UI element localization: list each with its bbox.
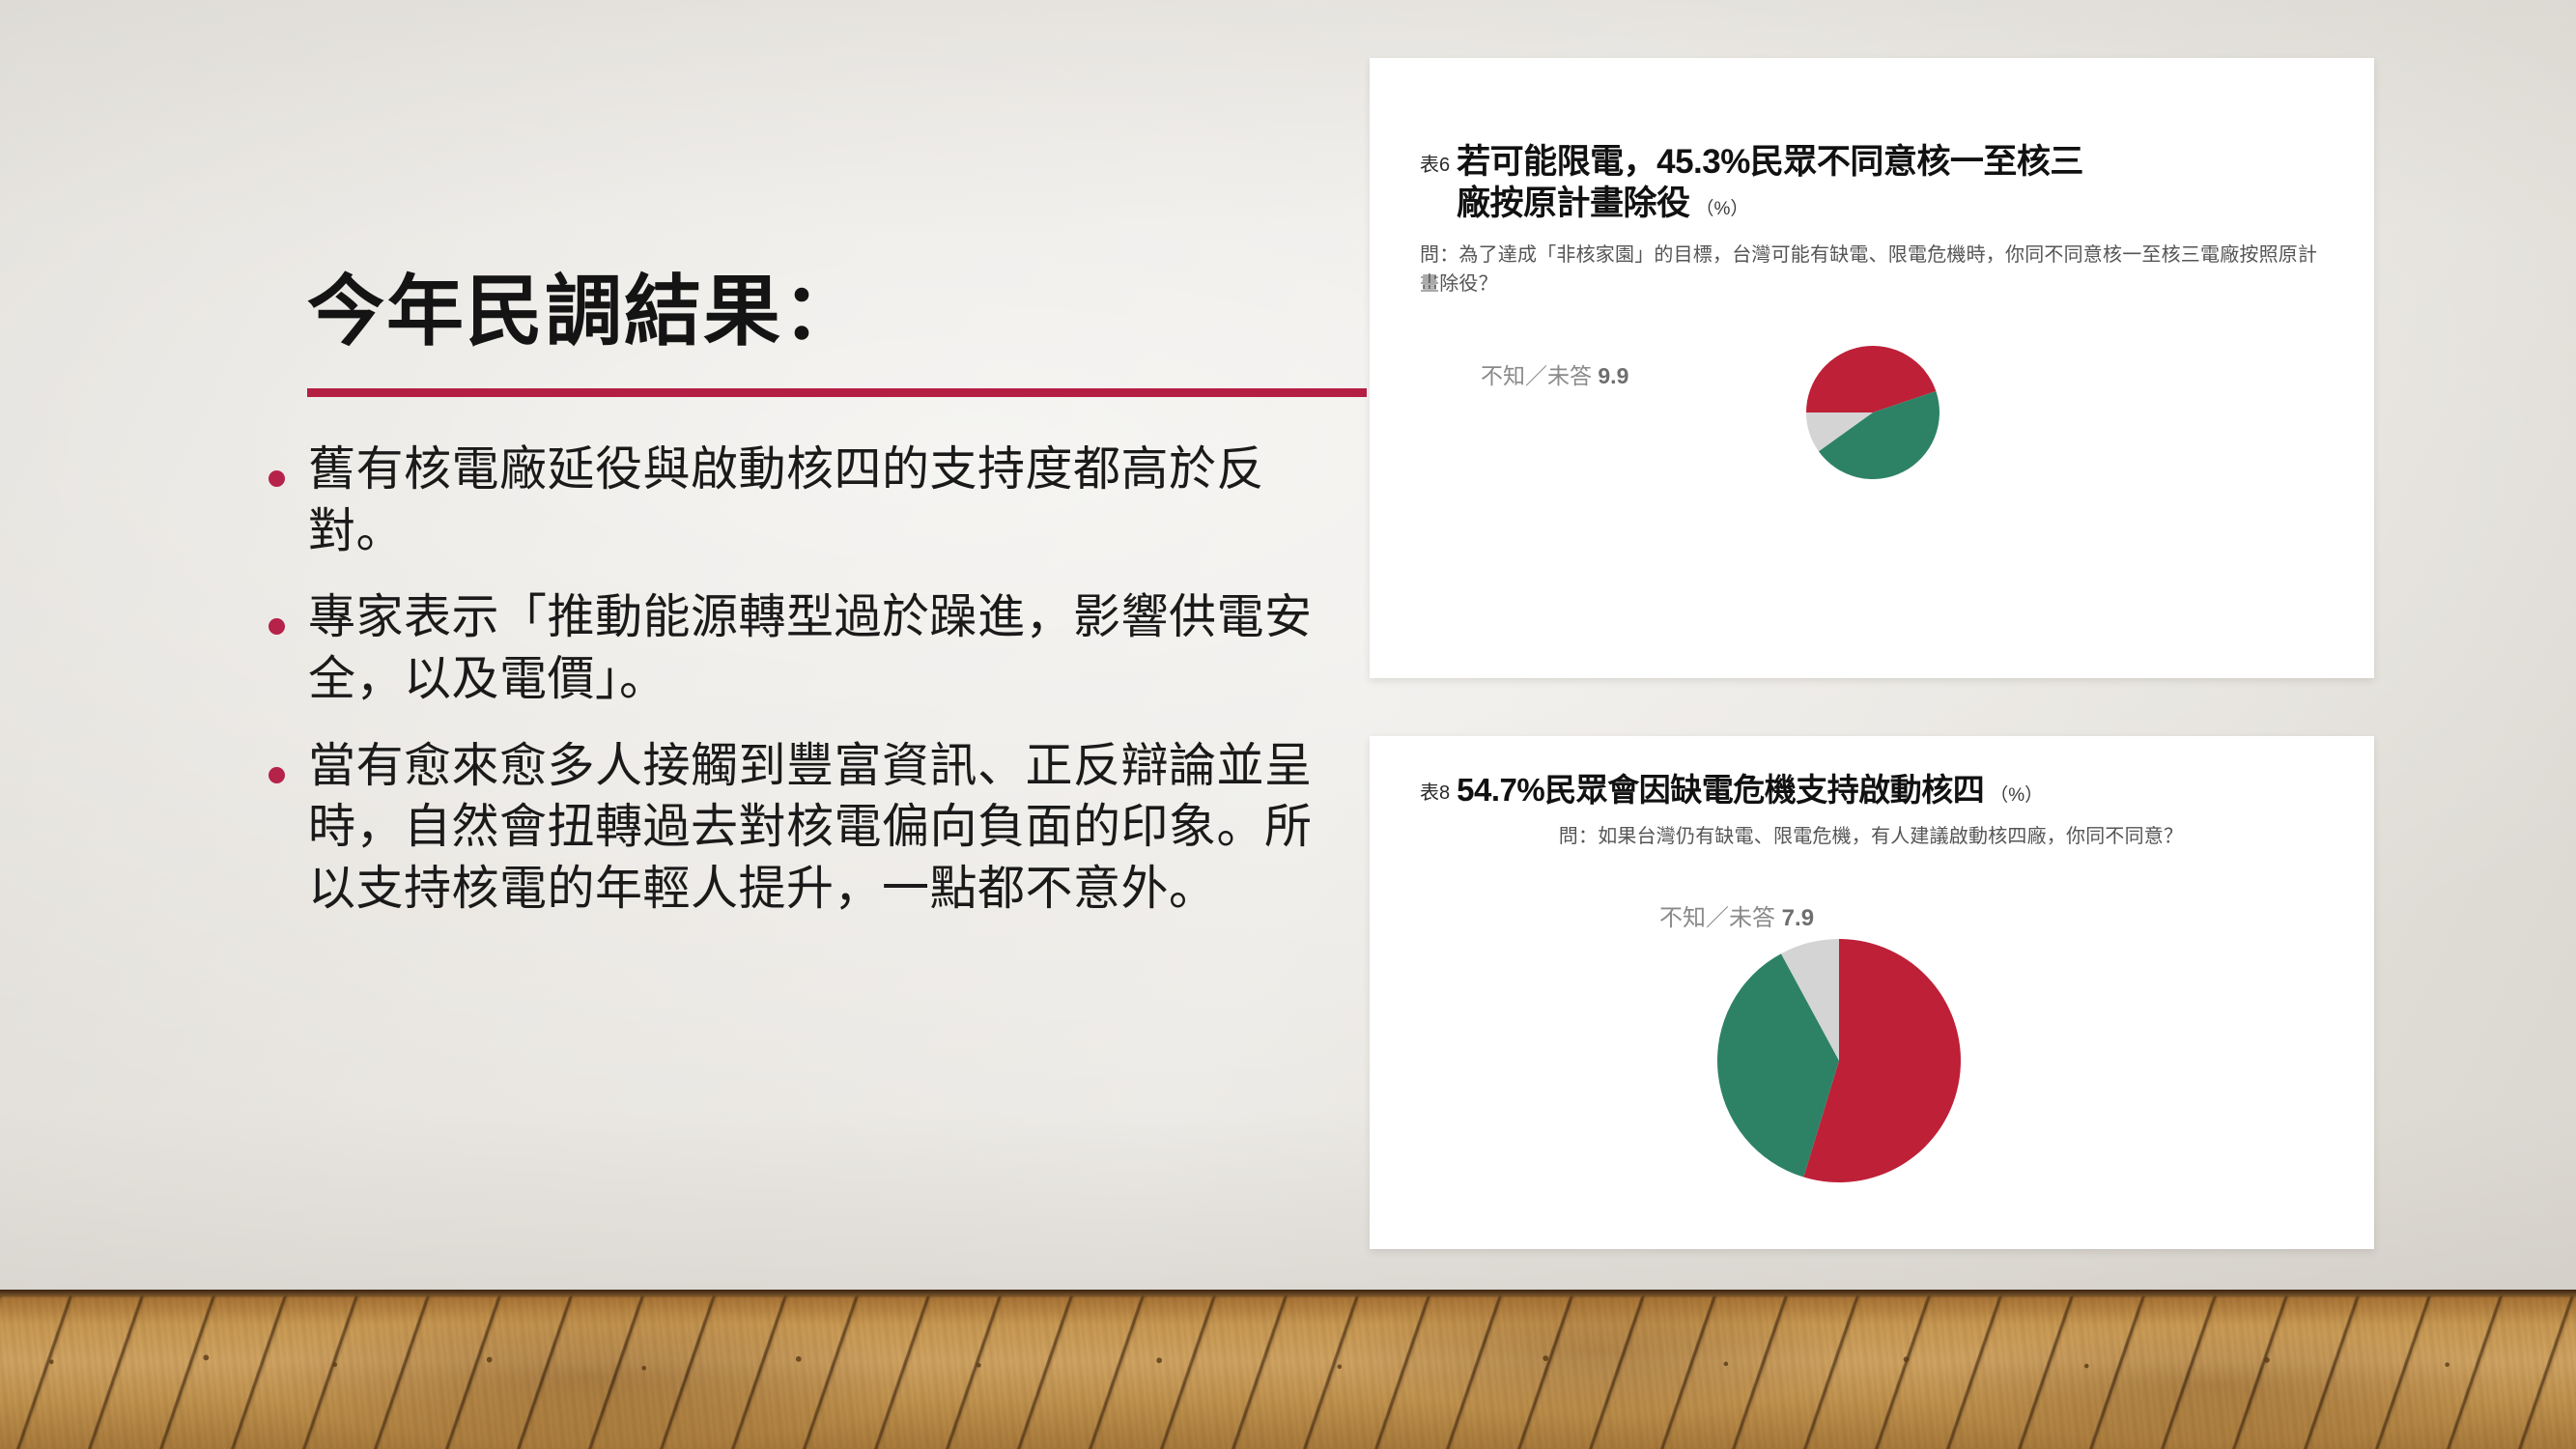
bullet-dot-icon — [269, 767, 285, 783]
list-item: 舊有核電廠延役與啟動核四的支持度都高於反對。 — [269, 440, 1360, 562]
slide-canvas: 今年民調結果： 舊有核電廠延役與啟動核四的支持度都高於反對。 專家表示「推動能源… — [0, 0, 2576, 1449]
pie-svg — [1717, 939, 1961, 1182]
pie-outside-label: 不知／未答 9.9 — [1481, 357, 1628, 390]
wooden-floor-background — [0, 1290, 2576, 1449]
pie-outside-value: 9.9 — [1598, 363, 1628, 388]
slide-content-left: 今年民調結果： 舊有核電廠延役與啟動核四的支持度都高於反對。 專家表示「推動能源… — [0, 0, 1370, 1290]
bullet-text: 專家表示「推動能源轉型過於躁進，影響供電安全，以及電價」。 — [308, 587, 1322, 710]
page-title: 今年民調結果： — [307, 249, 862, 361]
pie-outside-label: 不知／未答 7.9 — [1659, 898, 1814, 932]
bullet-text: 舊有核電廠延役與啟動核四的支持度都高於反對。 — [308, 440, 1322, 562]
list-item: 專家表示「推動能源轉型過於躁進，影響供電安全，以及電價」。 — [269, 587, 1360, 710]
list-item: 當有愈來愈多人接觸到豐富資訊、正反辯論並呈時，自然會扭轉過去對核電偏向負面的印象… — [269, 736, 1360, 921]
bullet-dot-icon — [269, 618, 285, 635]
pie-outside-name: 不知／未答 — [1481, 363, 1592, 388]
pie-svg — [1806, 346, 1939, 479]
bullet-text: 當有愈來愈多人接觸到豐富資訊、正反辯論並呈時，自然會扭轉過去對核電偏向負面的印象… — [308, 736, 1322, 921]
pie-chart-table8: 同意54.7不同意37.4不知／未答 7.9 — [1370, 736, 2374, 1249]
title-underline-rule — [307, 388, 1367, 397]
bullet-list: 舊有核電廠延役與啟動核四的支持度都高於反對。 專家表示「推動能源轉型過於躁進，影… — [269, 440, 1360, 946]
pie-chart-table6: 同意44.8不同意45.3不知／未答 9.9 — [1370, 58, 2374, 678]
pie-outside-name: 不知／未答 — [1659, 905, 1775, 931]
chart-card-table8: 表8 54.7%民眾會因缺電危機支持啟動核四 （%） 問：如果台灣仍有缺電、限電… — [1370, 736, 2374, 1249]
chart-card-table6: 表6 若可能限電，45.3%民眾不同意核一至核三 廠按原計畫除役 （%） 問：為… — [1370, 58, 2374, 678]
pie-outside-value: 7.9 — [1782, 905, 1814, 931]
bullet-dot-icon — [269, 470, 285, 487]
